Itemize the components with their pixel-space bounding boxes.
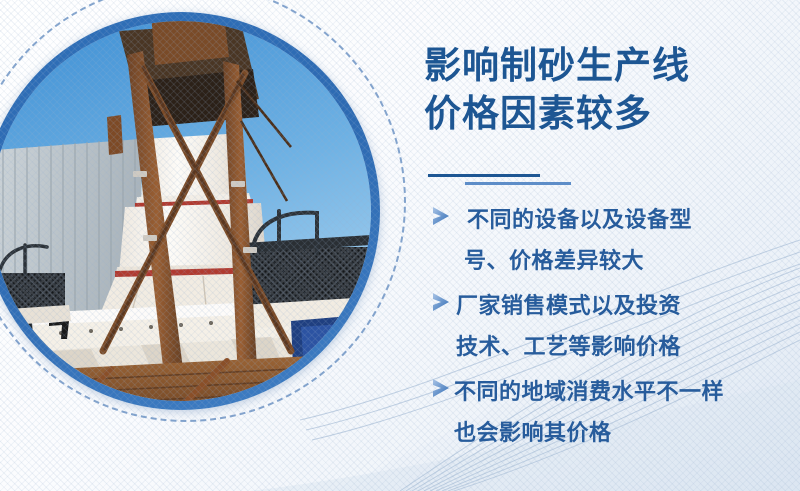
headline-line-1: 影响制砂生产线	[424, 45, 690, 86]
machine-photo	[0, 21, 371, 401]
list-item-line: 不同的设备以及设备型	[418, 199, 800, 240]
list-item-line: 不同的地域消费水平不一样	[418, 371, 800, 412]
feature-list: 不同的设备以及设备型 号、价格差异较大	[418, 199, 800, 457]
list-item: 不同的设备以及设备型 号、价格差异较大	[418, 199, 800, 281]
list-item-text: 不同的设备以及设备型 号、价格差异较大	[418, 199, 800, 281]
promo-banner: 影响制砂生产线 价格因素较多	[0, 0, 800, 491]
arrow-right-icon	[430, 377, 454, 399]
list-item-text: 不同的地域消费水平不一样 也会影响其价格	[418, 371, 800, 453]
list-item-line: 技术、工艺等影响价格	[418, 326, 800, 367]
arrow-right-icon	[430, 291, 454, 313]
list-item-line: 也会影响其价格	[418, 412, 800, 453]
list-item: 厂家销售模式以及投资 技术、工艺等影响价格	[418, 285, 800, 367]
arrow-right-icon	[430, 205, 454, 227]
list-item: 不同的地域消费水平不一样 也会影响其价格	[418, 371, 800, 453]
list-item-text: 厂家销售模式以及投资 技术、工艺等影响价格	[418, 285, 800, 367]
photo-circle	[0, 0, 412, 420]
title-rule-secondary	[465, 182, 571, 185]
headline-line-2: 价格因素较多	[424, 90, 796, 138]
list-item-line: 号、价格差异较大	[418, 240, 800, 281]
title-rule-primary	[428, 174, 540, 177]
list-item-line: 厂家销售模式以及投资	[418, 285, 800, 326]
text-column: 影响制砂生产线 价格因素较多	[418, 0, 800, 491]
page-title: 影响制砂生产线 价格因素较多	[424, 42, 796, 138]
